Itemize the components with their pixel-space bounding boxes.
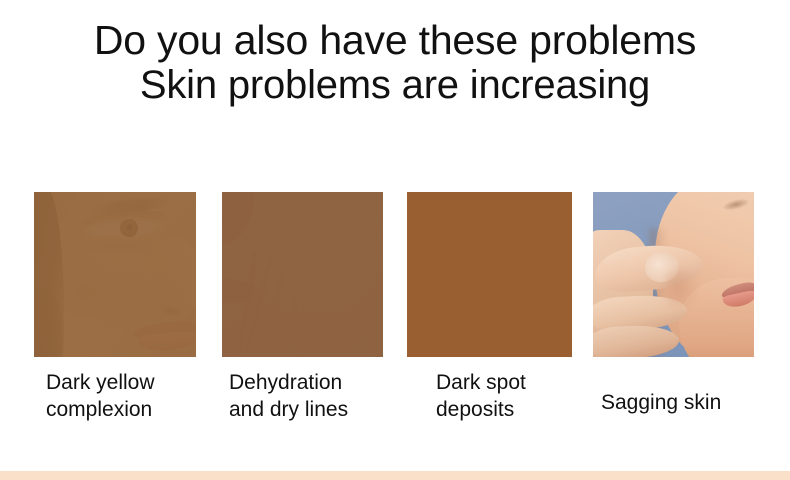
photo-dry-lines [222,192,383,357]
page-title: Do you also have these problems Skin pro… [0,17,790,109]
pinched-skin-fold [665,266,699,310]
photo-dark-spots [407,192,572,357]
caption-dehydration-and-dry-lines: Dehydration and dry lines [229,370,404,424]
problem-image-dehydration-and-dry-lines [222,192,383,357]
photo-skin-pinch [593,192,754,357]
caption-dark-spot-deposits: Dark spot deposits [436,370,586,424]
blemish-specks [222,192,383,357]
problem-image-dark-yellow-complexion [34,192,196,357]
caption-dark-yellow-complexion: Dark yellow complexion [46,370,216,424]
headline-line-2: Skin problems are increasing [0,63,790,108]
bottom-divider-band [0,471,790,480]
problem-image-row [0,192,790,357]
headline-line-1: Do you also have these problems [0,17,790,63]
caption-sagging-skin: Sagging skin [601,390,776,417]
caption-row: Dark yellow complexion Dehydration and d… [0,370,790,460]
photo-sallow-face [34,192,196,357]
age-spot-cluster [407,192,572,357]
freckle-texture [34,192,196,357]
problem-image-dark-spot-deposits [407,192,572,357]
problem-image-sagging-skin [593,192,754,357]
